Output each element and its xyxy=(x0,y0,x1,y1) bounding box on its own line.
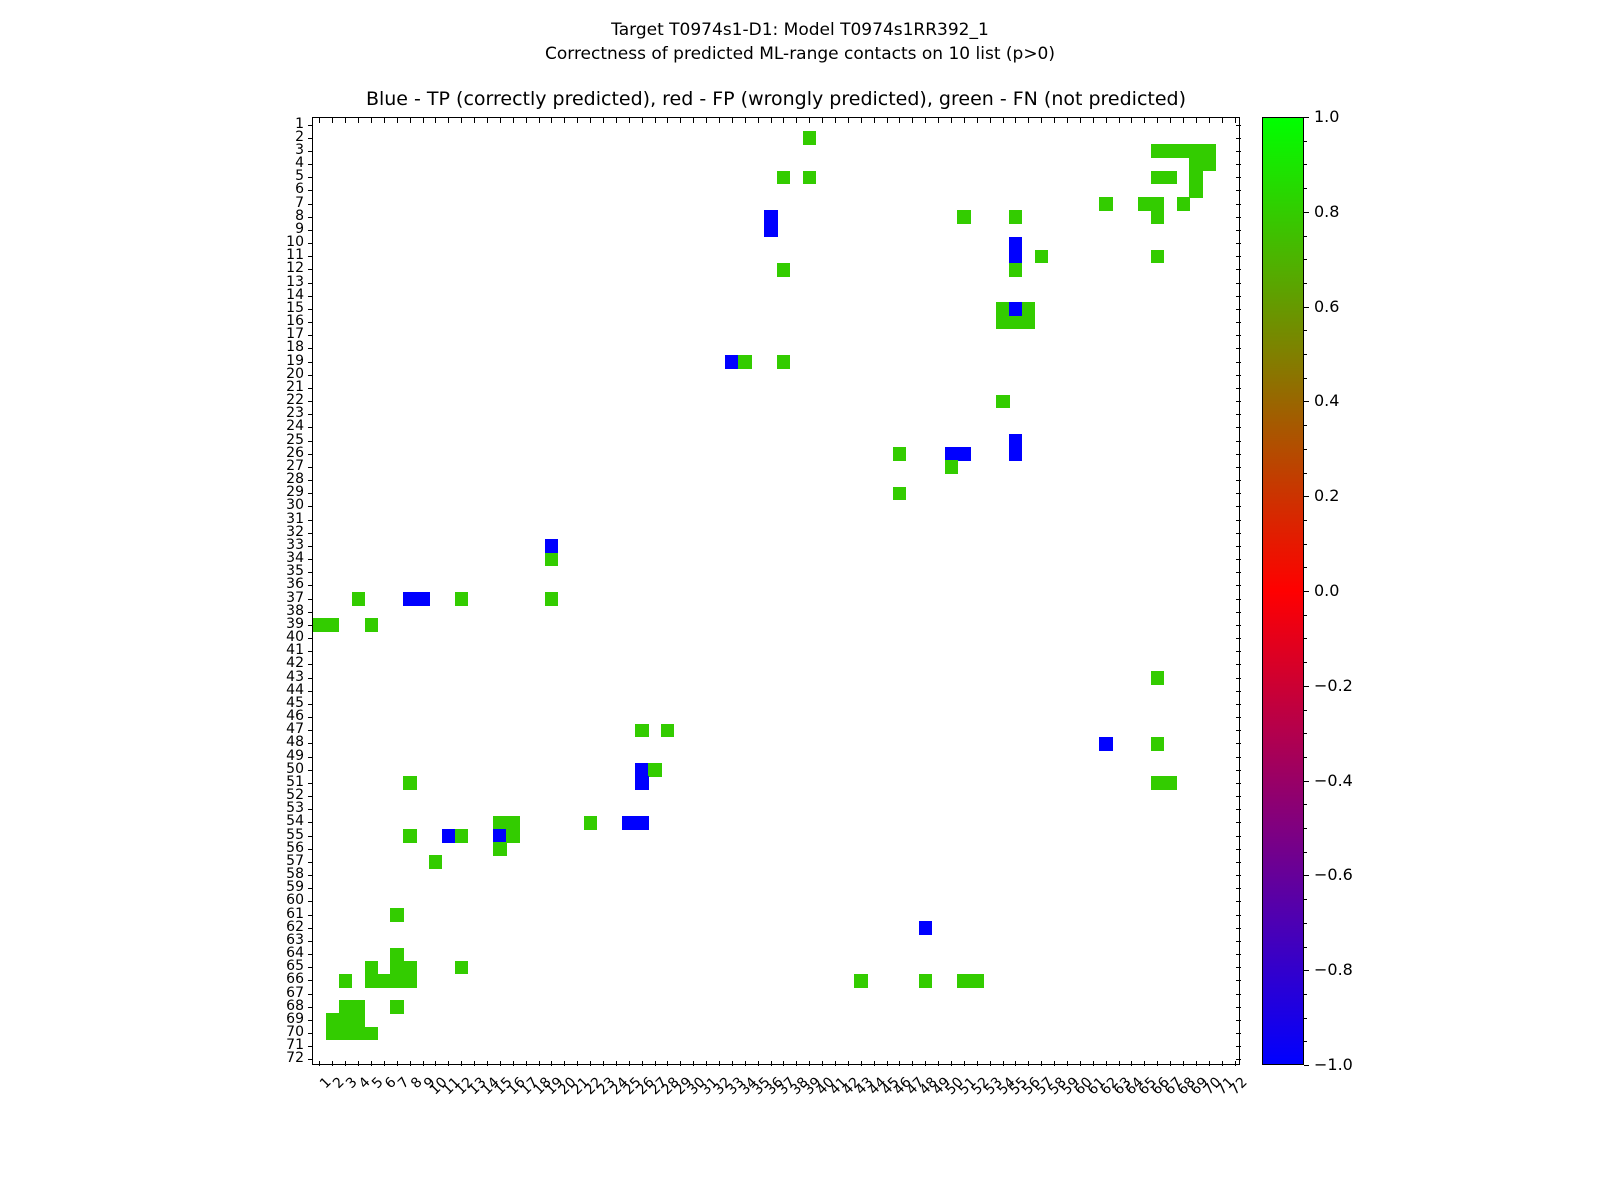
x-tick-mark-top xyxy=(835,118,836,123)
y-tick-mark xyxy=(308,414,313,415)
colorbar-tick-label: 0.4 xyxy=(1314,393,1339,409)
y-tick-mark xyxy=(308,467,313,468)
x-tick-mark-top xyxy=(358,118,359,123)
contact-cell xyxy=(893,487,906,501)
y-tick-mark-right xyxy=(1236,533,1241,534)
y-tick-mark-right xyxy=(1236,770,1241,771)
y-tick-mark-right xyxy=(1236,493,1241,494)
y-tick-mark-right xyxy=(1236,796,1241,797)
x-tick-mark-top xyxy=(783,118,784,123)
contact-cell xyxy=(1202,158,1215,172)
colorbar-minor-tick xyxy=(1304,852,1307,853)
y-tick-mark xyxy=(308,638,313,639)
contact-cell xyxy=(1164,144,1177,158)
contact-cell xyxy=(1151,197,1164,211)
colorbar-gradient xyxy=(1263,118,1303,1064)
y-tick-mark-right xyxy=(1236,467,1241,468)
x-tick-mark-top xyxy=(616,118,617,123)
y-tick-mark-right xyxy=(1236,1059,1241,1060)
y-tick-mark-right xyxy=(1236,822,1241,823)
contact-cell xyxy=(403,961,416,975)
contact-cell xyxy=(957,210,970,224)
contact-cell xyxy=(365,961,378,975)
colorbar-tick-label: 0.6 xyxy=(1314,299,1339,315)
x-tick-mark-top xyxy=(423,118,424,123)
contact-cell xyxy=(1151,671,1164,685)
contact-cell xyxy=(1138,197,1151,211)
y-tick-mark xyxy=(308,664,313,665)
x-tick-mark-top xyxy=(1003,118,1004,123)
y-tick-mark xyxy=(308,717,313,718)
contact-cell xyxy=(1189,184,1202,198)
y-tick-mark-right xyxy=(1236,585,1241,586)
contact-cell xyxy=(493,842,506,856)
x-tick-mark-top xyxy=(435,118,436,123)
y-tick-mark xyxy=(308,506,313,507)
y-tick-mark-right xyxy=(1236,862,1241,863)
contact-cell xyxy=(390,961,403,975)
y-tick-mark-right xyxy=(1236,401,1241,402)
y-tick-mark xyxy=(308,862,313,863)
contact-cell xyxy=(1189,144,1202,158)
y-tick-mark-right xyxy=(1236,612,1241,613)
contact-cell xyxy=(339,1027,352,1041)
y-tick-mark-right xyxy=(1236,783,1241,784)
y-tick-mark-right xyxy=(1236,849,1241,850)
contact-cell xyxy=(661,724,674,738)
x-tick-mark-top xyxy=(1209,118,1210,123)
y-tick-mark-right xyxy=(1236,743,1241,744)
contact-cell xyxy=(996,302,1009,316)
contact-cell xyxy=(313,618,326,632)
y-tick-mark xyxy=(308,401,313,402)
colorbar-minor-tick xyxy=(1304,1065,1307,1066)
contact-cell xyxy=(803,131,816,145)
y-tick-mark-right xyxy=(1236,256,1241,257)
x-tick-mark-top xyxy=(655,118,656,123)
colorbar-tick-label: 1.0 xyxy=(1314,109,1339,125)
y-tick-mark xyxy=(308,454,313,455)
y-tick-mark-right xyxy=(1236,875,1241,876)
x-tick-mark-top xyxy=(912,118,913,123)
x-tick-mark-top xyxy=(667,118,668,123)
contact-cell xyxy=(339,1000,352,1014)
colorbar-minor-tick xyxy=(1304,615,1307,616)
y-tick-mark-right xyxy=(1236,625,1241,626)
figure-suptitle: Target T0974s1-D1: Model T0974s1RR392_1 … xyxy=(0,18,1600,66)
y-tick-mark-right xyxy=(1236,125,1241,126)
colorbar-minor-tick xyxy=(1304,662,1307,663)
colorbar-tick-label: −0.8 xyxy=(1314,962,1353,978)
contact-cell xyxy=(1151,250,1164,264)
x-tick-mark-top xyxy=(410,118,411,123)
x-tick-mark-top xyxy=(964,118,965,123)
y-tick-mark xyxy=(308,651,313,652)
contact-cell xyxy=(442,829,455,843)
y-tick-mark xyxy=(308,559,313,560)
colorbar xyxy=(1262,117,1304,1065)
x-tick-mark-top xyxy=(680,118,681,123)
suptitle-line-1: Target T0974s1-D1: Model T0974s1RR392_1 xyxy=(0,18,1600,42)
x-tick-mark-top xyxy=(629,118,630,123)
contact-cell xyxy=(1177,144,1190,158)
y-tick-mark xyxy=(308,1059,313,1060)
y-tick-mark-right xyxy=(1236,730,1241,731)
x-tick-mark-top xyxy=(526,118,527,123)
contact-cell xyxy=(893,447,906,461)
x-tick-mark-top xyxy=(951,118,952,123)
x-tick-mark-top xyxy=(1196,118,1197,123)
y-tick-mark xyxy=(308,994,313,995)
y-tick-mark xyxy=(308,901,313,902)
colorbar-minor-tick xyxy=(1304,567,1307,568)
y-tick-mark-right xyxy=(1236,757,1241,758)
contact-cell xyxy=(1164,776,1177,790)
y-tick-mark xyxy=(308,256,313,257)
contact-cell xyxy=(584,816,597,830)
x-tick-mark-top xyxy=(319,118,320,123)
y-tick-mark xyxy=(308,362,313,363)
colorbar-minor-tick xyxy=(1304,686,1307,687)
x-tick-mark-top xyxy=(513,118,514,123)
y-tick-mark-right xyxy=(1236,177,1241,178)
contact-cell xyxy=(1177,197,1190,211)
y-tick-mark xyxy=(308,770,313,771)
x-tick-mark-top xyxy=(1157,118,1158,123)
contact-cell xyxy=(455,829,468,843)
y-tick-mark xyxy=(308,941,313,942)
contact-cell xyxy=(1022,302,1035,316)
y-tick-mark xyxy=(308,849,313,850)
x-tick-mark-top xyxy=(732,118,733,123)
colorbar-minor-tick xyxy=(1304,875,1307,876)
contact-cell xyxy=(1099,737,1112,751)
x-tick-mark-top xyxy=(1183,118,1184,123)
y-tick-mark xyxy=(308,480,313,481)
x-tick-mark-top xyxy=(590,118,591,123)
colorbar-minor-tick xyxy=(1304,781,1307,782)
y-tick-mark xyxy=(308,875,313,876)
contact-cell xyxy=(339,974,352,988)
y-tick-mark xyxy=(308,388,313,389)
colorbar-minor-tick xyxy=(1304,401,1307,402)
contact-cell xyxy=(1035,250,1048,264)
colorbar-minor-tick xyxy=(1304,544,1307,545)
contact-cell xyxy=(945,447,958,461)
colorbar-tick-labels: 1.00.80.60.40.20.0−0.2−0.4−0.6−0.8−1.0 xyxy=(1304,117,1374,1065)
contact-map-axes[interactable] xyxy=(312,117,1240,1065)
contact-cell xyxy=(429,855,442,869)
contact-map-cells xyxy=(313,118,1239,1064)
y-tick-mark xyxy=(308,520,313,521)
contact-cell xyxy=(455,592,468,606)
y-tick-mark xyxy=(308,533,313,534)
contact-cell xyxy=(403,776,416,790)
x-tick-mark-top xyxy=(371,118,372,123)
contact-cell xyxy=(996,316,1009,330)
y-tick-mark-right xyxy=(1236,375,1241,376)
y-tick-mark-right xyxy=(1236,348,1241,349)
y-tick-mark-right xyxy=(1236,967,1241,968)
y-tick-mark xyxy=(308,138,313,139)
contact-cell xyxy=(1009,250,1022,264)
contact-cell xyxy=(365,1027,378,1041)
y-tick-mark-right xyxy=(1236,164,1241,165)
x-tick-mark-top xyxy=(1080,118,1081,123)
y-tick-mark xyxy=(308,783,313,784)
y-tick-mark xyxy=(308,1046,313,1047)
y-tick-mark xyxy=(308,888,313,889)
contact-cell xyxy=(1009,210,1022,224)
y-tick-mark xyxy=(308,177,313,178)
x-tick-mark-top xyxy=(990,118,991,123)
x-tick-mark-top xyxy=(474,118,475,123)
contact-cell xyxy=(777,355,790,369)
y-tick-mark xyxy=(308,822,313,823)
x-tick-mark-top xyxy=(822,118,823,123)
y-tick-label: 72 xyxy=(286,1051,304,1065)
y-tick-mark-right xyxy=(1236,664,1241,665)
colorbar-minor-tick xyxy=(1304,188,1307,189)
y-tick-mark xyxy=(308,704,313,705)
colorbar-minor-tick xyxy=(1304,425,1307,426)
contact-cell xyxy=(648,763,661,777)
contact-cell xyxy=(352,1027,365,1041)
y-tick-mark-right xyxy=(1236,1046,1241,1047)
colorbar-minor-tick xyxy=(1304,1018,1307,1019)
contact-cell xyxy=(545,539,558,553)
x-tick-mark-top xyxy=(448,118,449,123)
contact-cell xyxy=(506,816,519,830)
y-tick-mark-right xyxy=(1236,1007,1241,1008)
y-tick-mark-right xyxy=(1236,888,1241,889)
colorbar-minor-tick xyxy=(1304,283,1307,284)
x-tick-mark-top xyxy=(861,118,862,123)
contact-cell xyxy=(996,395,1009,409)
contact-cell xyxy=(365,618,378,632)
contact-cell xyxy=(390,974,403,988)
colorbar-minor-tick xyxy=(1304,520,1307,521)
y-tick-mark xyxy=(308,612,313,613)
contact-cell xyxy=(1151,171,1164,185)
colorbar-minor-tick xyxy=(1304,141,1307,142)
x-tick-mark-top xyxy=(384,118,385,123)
colorbar-minor-tick xyxy=(1304,354,1307,355)
contact-cell xyxy=(390,948,403,962)
contact-cell xyxy=(352,1013,365,1027)
colorbar-minor-tick xyxy=(1304,117,1307,118)
y-tick-mark xyxy=(308,691,313,692)
contact-cell xyxy=(339,1013,352,1027)
x-tick-mark-top xyxy=(1028,118,1029,123)
y-tick-mark xyxy=(308,348,313,349)
y-tick-mark xyxy=(308,809,313,810)
colorbar-minor-tick xyxy=(1304,1041,1307,1042)
y-tick-mark-right xyxy=(1236,638,1241,639)
y-tick-mark xyxy=(308,572,313,573)
y-tick-mark xyxy=(308,217,313,218)
x-tick-mark-top xyxy=(1041,118,1042,123)
y-tick-mark-right xyxy=(1236,678,1241,679)
y-tick-mark xyxy=(308,427,313,428)
y-tick-mark-right xyxy=(1236,138,1241,139)
contact-cell xyxy=(635,724,648,738)
contact-cell xyxy=(764,210,777,224)
contact-cell xyxy=(803,171,816,185)
contact-cell xyxy=(390,1000,403,1014)
colorbar-minor-tick xyxy=(1304,923,1307,924)
y-tick-mark-right xyxy=(1236,283,1241,284)
x-tick-mark-top xyxy=(487,118,488,123)
colorbar-minor-tick xyxy=(1304,970,1307,971)
contact-cell xyxy=(493,816,506,830)
contact-cell xyxy=(365,974,378,988)
contact-cell xyxy=(945,460,958,474)
contact-cell xyxy=(919,974,932,988)
y-tick-mark xyxy=(308,599,313,600)
colorbar-minor-tick xyxy=(1304,899,1307,900)
y-tick-mark-right xyxy=(1236,296,1241,297)
contact-cell xyxy=(635,816,648,830)
x-tick-mark-top xyxy=(1015,118,1016,123)
colorbar-minor-tick xyxy=(1304,828,1307,829)
x-tick-mark-top xyxy=(539,118,540,123)
colorbar-minor-tick xyxy=(1304,804,1307,805)
x-tick-mark-top xyxy=(397,118,398,123)
colorbar-minor-tick xyxy=(1304,757,1307,758)
y-tick-mark-right xyxy=(1236,204,1241,205)
y-tick-mark-right xyxy=(1236,994,1241,995)
y-tick-mark xyxy=(308,954,313,955)
y-tick-mark-right xyxy=(1236,915,1241,916)
colorbar-minor-tick xyxy=(1304,591,1307,592)
contact-cell xyxy=(455,961,468,975)
colorbar-minor-tick xyxy=(1304,307,1307,308)
contact-cell xyxy=(919,921,932,935)
y-tick-mark xyxy=(308,836,313,837)
y-tick-mark-right xyxy=(1236,217,1241,218)
contact-cell xyxy=(1009,237,1022,251)
x-tick-mark-top xyxy=(706,118,707,123)
x-tick-mark-top xyxy=(758,118,759,123)
y-tick-mark xyxy=(308,243,313,244)
y-tick-mark-right xyxy=(1236,520,1241,521)
y-tick-mark xyxy=(308,375,313,376)
x-tick-mark-top xyxy=(887,118,888,123)
colorbar-tick-label: 0.8 xyxy=(1314,204,1339,220)
y-tick-mark xyxy=(308,1007,313,1008)
contact-cell xyxy=(957,447,970,461)
x-tick-mark-top xyxy=(693,118,694,123)
y-tick-mark-right xyxy=(1236,691,1241,692)
y-axis-tick-labels: 1234567891011121314151617181920212223242… xyxy=(0,117,312,1065)
y-tick-mark-right xyxy=(1236,901,1241,902)
y-tick-mark-right xyxy=(1236,480,1241,481)
colorbar-minor-tick xyxy=(1304,710,1307,711)
contact-cell xyxy=(635,763,648,777)
colorbar-minor-tick xyxy=(1304,733,1307,734)
x-tick-mark-top xyxy=(603,118,604,123)
y-tick-mark-right xyxy=(1236,599,1241,600)
x-tick-mark-top xyxy=(848,118,849,123)
colorbar-tick-label: −0.4 xyxy=(1314,773,1353,789)
contact-cell xyxy=(1009,434,1022,448)
y-tick-mark xyxy=(308,441,313,442)
contact-cell xyxy=(352,592,365,606)
x-tick-mark-top xyxy=(874,118,875,123)
colorbar-tick-label: −0.2 xyxy=(1314,678,1353,694)
x-axis-tick-labels: 1234567891011121314151617181920212223242… xyxy=(312,1065,1240,1155)
x-tick-mark-top xyxy=(551,118,552,123)
y-tick-mark xyxy=(308,190,313,191)
x-tick-mark-top xyxy=(899,118,900,123)
x-tick-mark-top xyxy=(938,118,939,123)
y-tick-mark-right xyxy=(1236,954,1241,955)
colorbar-minor-tick xyxy=(1304,164,1307,165)
y-tick-mark-right xyxy=(1236,362,1241,363)
y-tick-mark-right xyxy=(1236,651,1241,652)
y-tick-mark xyxy=(308,980,313,981)
y-tick-mark xyxy=(308,928,313,929)
y-tick-mark xyxy=(308,678,313,679)
y-tick-mark xyxy=(308,204,313,205)
y-tick-mark-right xyxy=(1236,441,1241,442)
x-tick-mark-top xyxy=(1144,118,1145,123)
contact-cell xyxy=(352,1000,365,1014)
contact-cell xyxy=(1099,197,1112,211)
y-tick-mark-right xyxy=(1236,941,1241,942)
y-tick-mark-right xyxy=(1236,704,1241,705)
colorbar-minor-tick xyxy=(1304,638,1307,639)
colorbar-minor-tick xyxy=(1304,496,1307,497)
x-tick-mark-top xyxy=(1170,118,1171,123)
y-tick-mark-right xyxy=(1236,836,1241,837)
x-tick-mark-top xyxy=(461,118,462,123)
contact-cell xyxy=(326,618,339,632)
x-tick-mark-top xyxy=(1106,118,1107,123)
contact-cell xyxy=(545,592,558,606)
y-tick-mark-right xyxy=(1236,717,1241,718)
contact-cell xyxy=(854,974,867,988)
contact-cell xyxy=(1151,737,1164,751)
contact-cell xyxy=(390,908,403,922)
x-tick-mark-top xyxy=(745,118,746,123)
contact-cell xyxy=(970,974,983,988)
y-tick-mark-right xyxy=(1236,309,1241,310)
y-tick-mark-right xyxy=(1236,454,1241,455)
contact-cell xyxy=(764,223,777,237)
contact-cell xyxy=(957,974,970,988)
colorbar-minor-tick xyxy=(1304,259,1307,260)
x-tick-mark-top xyxy=(564,118,565,123)
x-tick-mark-top xyxy=(500,118,501,123)
y-tick-mark-right xyxy=(1236,230,1241,231)
y-tick-mark xyxy=(308,309,313,310)
colorbar-minor-tick xyxy=(1304,994,1307,995)
contact-cell xyxy=(725,355,738,369)
contact-cell xyxy=(1022,316,1035,330)
x-tick-mark-top xyxy=(332,118,333,123)
contact-cell xyxy=(545,553,558,567)
y-tick-mark-right xyxy=(1236,269,1241,270)
y-tick-mark-right xyxy=(1236,809,1241,810)
contact-map-figure: Target T0974s1-D1: Model T0974s1RR392_1 … xyxy=(0,0,1600,1200)
y-tick-mark xyxy=(308,125,313,126)
y-tick-mark xyxy=(308,585,313,586)
y-tick-mark xyxy=(308,757,313,758)
colorbar-tick-label: 0.0 xyxy=(1314,583,1339,599)
colorbar-tick-label: −0.6 xyxy=(1314,867,1353,883)
